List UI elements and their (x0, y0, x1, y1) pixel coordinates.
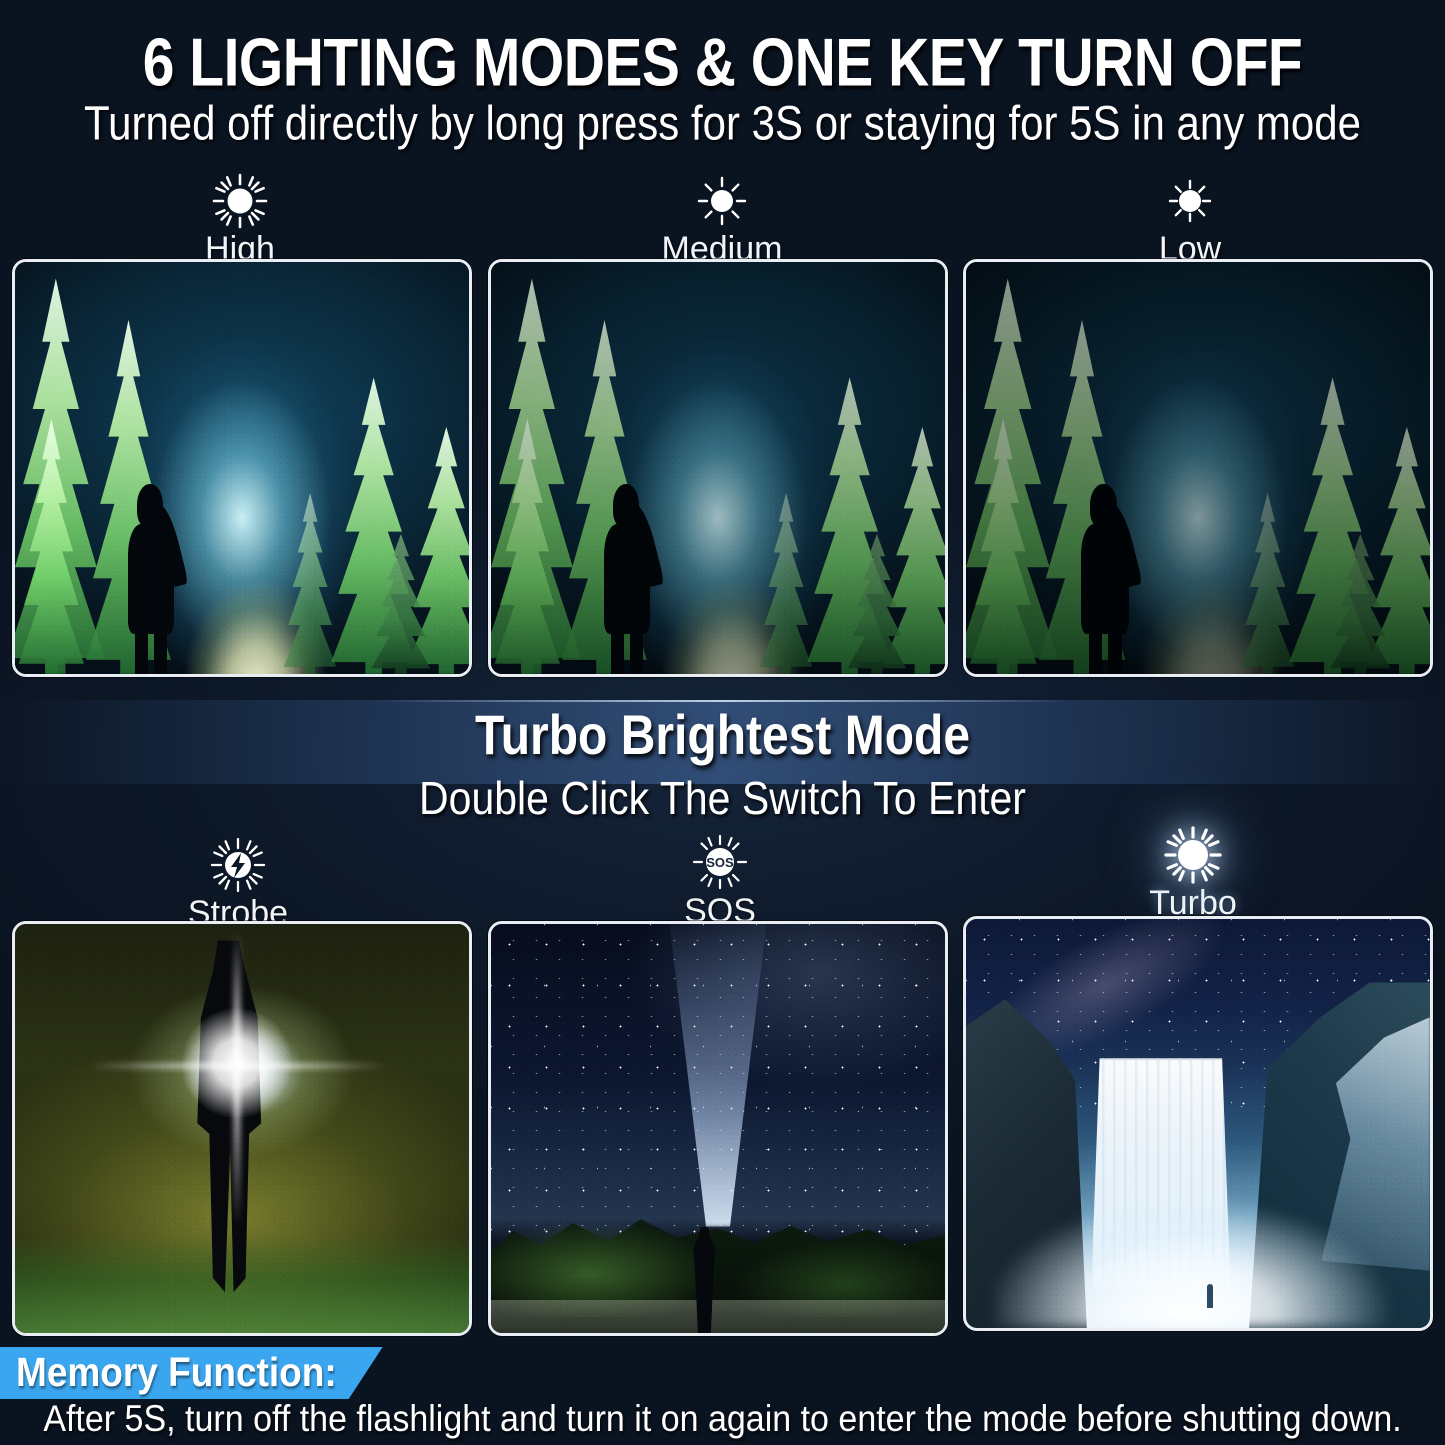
scene-turbo-waterfall (966, 919, 1430, 1328)
page-title: 6 LIGHTING MODES & ONE KEY TURN OFF (0, 24, 1445, 102)
mode-turbo: Turbo (1043, 824, 1343, 922)
photo-panel-low (963, 259, 1433, 677)
memory-function-badge: Memory Function: (0, 1347, 383, 1399)
memory-function-description: After 5S, turn off the flashlight and tu… (0, 1398, 1445, 1441)
sun-turbo-glow-icon (1043, 824, 1343, 886)
turbo-banner-subtitle: Double Click The Switch To Enter (0, 772, 1445, 826)
mode-strobe: Strobe (88, 834, 388, 932)
scene-forest-road-medium (491, 262, 945, 674)
photo-panel-strobe (12, 921, 472, 1336)
photo-panel-sos (488, 921, 948, 1336)
scene-sos-starry-beam (491, 924, 945, 1333)
mode-high: High (90, 170, 390, 268)
sun-sos-icon: SOS (570, 832, 870, 894)
infographic-page: 6 LIGHTING MODES & ONE KEY TURN OFF Turn… (0, 0, 1445, 1445)
scene-strobe-flare (15, 924, 469, 1333)
svg-text:SOS: SOS (706, 855, 734, 870)
sun-medium-icon (572, 170, 872, 232)
sun-low-icon (1040, 170, 1340, 232)
mode-low: Low (1040, 170, 1340, 268)
photo-panel-medium (488, 259, 948, 677)
photo-panel-high (12, 259, 472, 677)
mode-sos: SOS SOS (570, 832, 870, 930)
memory-function-label: Memory Function: (16, 1350, 337, 1396)
scene-forest-road-high (15, 262, 469, 674)
turbo-banner-title: Turbo Brightest Mode (0, 704, 1445, 768)
page-subtitle: Turned off directly by long press for 3S… (0, 96, 1445, 151)
photo-panel-turbo (963, 916, 1433, 1331)
sun-lightning-icon (88, 834, 388, 896)
sun-bright-icon (90, 170, 390, 232)
scene-forest-road-low (966, 262, 1430, 674)
mode-medium: Medium (572, 170, 872, 268)
